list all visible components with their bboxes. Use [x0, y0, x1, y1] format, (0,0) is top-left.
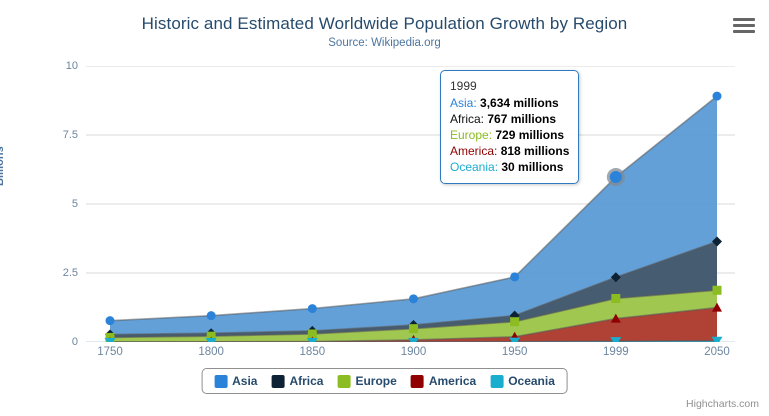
legend-label: Africa — [289, 374, 323, 388]
plot-area[interactable] — [86, 66, 735, 342]
highcharts-container: Historic and Estimated Worldwide Populat… — [0, 0, 769, 416]
plot-svg — [86, 66, 735, 342]
x-axis: 1750180018501900195019992050 — [86, 346, 735, 366]
x-axis-tick-label: 1850 — [282, 346, 342, 358]
data-point-europe-2050[interactable] — [713, 286, 722, 295]
menu-bar-top — [733, 18, 755, 21]
y-axis-tick-label: 5 — [40, 198, 78, 210]
y-axis-title: Billions — [0, 146, 6, 186]
tooltip-row: America: 818 millions — [450, 143, 569, 159]
x-axis-tick-label: 1999 — [586, 346, 646, 358]
data-point-europe-1999[interactable] — [611, 294, 620, 303]
data-point-asia-1850[interactable] — [308, 304, 317, 313]
legend-label: America — [429, 374, 476, 388]
y-axis: 02.557.510 — [38, 66, 78, 342]
tooltip-series-value: 30 millions — [501, 160, 563, 174]
legend-swatch-icon — [214, 375, 227, 388]
x-axis-tick-label: 1750 — [80, 346, 140, 358]
data-point-europe-1950[interactable] — [510, 317, 519, 326]
data-point-asia-1900[interactable] — [409, 294, 418, 303]
tooltip-row: Europe: 729 millions — [450, 127, 569, 143]
tooltip-series-name: America: — [450, 144, 501, 158]
menu-bar-middle — [733, 24, 755, 27]
legend-swatch-icon — [411, 375, 424, 388]
chart-tooltip: 1999 Asia: 3,634 millionsAfrica: 767 mil… — [440, 70, 579, 184]
data-point-asia-1750[interactable] — [106, 316, 115, 325]
credits-link[interactable]: Highcharts.com — [686, 398, 759, 410]
data-point-asia-1800[interactable] — [207, 311, 216, 320]
data-point-asia-1999[interactable] — [607, 168, 625, 186]
data-point-asia-1950[interactable] — [510, 272, 519, 281]
tooltip-series-name: Oceania: — [450, 160, 501, 174]
tooltip-series-value: 3,634 millions — [480, 96, 559, 110]
tooltip-row: Asia: 3,634 millions — [450, 95, 569, 111]
legend-swatch-icon — [271, 375, 284, 388]
data-point-europe-1900[interactable] — [409, 324, 418, 333]
tooltip-header: 1999 — [450, 78, 569, 95]
x-axis-tick-label: 1800 — [181, 346, 241, 358]
tooltip-series-name: Asia: — [450, 96, 480, 110]
tooltip-rows: Asia: 3,634 millionsAfrica: 767 millions… — [450, 95, 569, 175]
hamburger-menu-icon[interactable] — [732, 15, 756, 37]
tooltip-row: Africa: 767 millions — [450, 111, 569, 127]
tooltip-series-value: 818 millions — [501, 144, 570, 158]
y-axis-tick-label: 10 — [40, 60, 78, 72]
x-axis-tick-label: 1900 — [384, 346, 444, 358]
chart-subtitle: Source: Wikipedia.org — [0, 37, 769, 49]
tooltip-series-name: Africa: — [450, 112, 487, 126]
x-axis-tick-label: 1950 — [485, 346, 545, 358]
chart-legend: AsiaAfricaEuropeAmericaOceania — [201, 368, 568, 394]
y-axis-tick-label: 7.5 — [40, 129, 78, 141]
tooltip-row: Oceania: 30 millions — [450, 159, 569, 175]
legend-item-asia[interactable]: Asia — [214, 374, 257, 388]
legend-item-europe[interactable]: Europe — [337, 374, 396, 388]
legend-swatch-icon — [337, 375, 350, 388]
tooltip-series-value: 729 millions — [495, 128, 564, 142]
legend-label: Oceania — [508, 374, 555, 388]
legend-item-oceania[interactable]: Oceania — [490, 374, 555, 388]
y-axis-tick-label: 0 — [40, 336, 78, 348]
legend-item-america[interactable]: America — [411, 374, 476, 388]
menu-bar-bottom — [733, 30, 755, 33]
tooltip-series-value: 767 millions — [487, 112, 556, 126]
tooltip-series-name: Europe: — [450, 128, 495, 142]
legend-label: Europe — [355, 374, 396, 388]
chart-title: Historic and Estimated Worldwide Populat… — [0, 14, 769, 34]
legend-swatch-icon — [490, 375, 503, 388]
data-point-asia-2050[interactable] — [713, 92, 722, 101]
legend-item-africa[interactable]: Africa — [271, 374, 323, 388]
y-axis-tick-label: 2.5 — [40, 267, 78, 279]
legend-label: Asia — [232, 374, 257, 388]
x-axis-tick-label: 2050 — [687, 346, 747, 358]
